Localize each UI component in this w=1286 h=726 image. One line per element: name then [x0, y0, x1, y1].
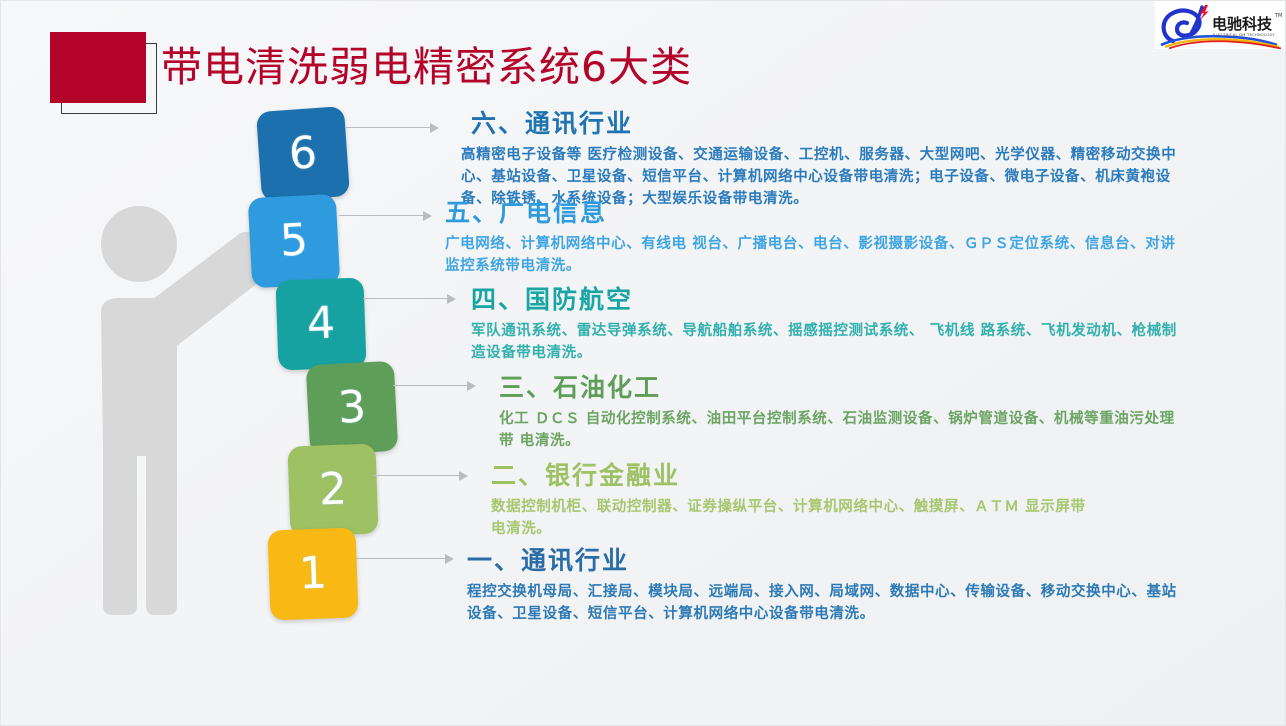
logo-tm-mark: TM: [1274, 13, 1282, 19]
block-number-5: 5: [279, 218, 309, 263]
section-1-body: 程控交换机母局、汇接局、模块局、远端局、接入网、局域网、数据中心、传输设备、移动…: [467, 581, 1179, 625]
number-block-1[interactable]: 1: [267, 527, 358, 620]
number-block-3[interactable]: 3: [306, 361, 399, 455]
page-title: 带电清洗弱电精密系统6大类: [161, 39, 692, 95]
section-1: 一、通讯行业 程控交换机母局、汇接局、模块局、远端局、接入网、局域网、数据中心、…: [467, 546, 1187, 625]
section-3-heading: 三、石油化工: [499, 373, 1191, 403]
slide-canvas: 电驰科技 ELECTRICAL DM TECHNOLOGY TM 带电清洗弱电精…: [0, 0, 1286, 726]
section-5-heading: 五、广电信息: [445, 198, 1187, 228]
number-block-5[interactable]: 5: [248, 194, 341, 288]
logo-graphic: 电驰科技 ELECTRICAL DM TECHNOLOGY TM: [1155, 1, 1285, 49]
section-2: 二、银行金融业 数据控制机柜、联动控制器、证券操纵平台、计算机网络中心、触摸屏、…: [491, 461, 1191, 540]
section-2-heading: 二、银行金融业: [491, 461, 1191, 491]
company-logo: 电驰科技 ELECTRICAL DM TECHNOLOGY TM: [1155, 1, 1285, 49]
arrow-to-section-6: [346, 123, 439, 133]
section-4: 四、国防航空 军队通讯系统、雷达导弹系统、导航船舶系统、摇感摇控测试系统、 飞机…: [471, 285, 1191, 364]
section-6: 六、通讯行业 高精密电子设备等 医疗检测设备、交通运输设备、工控机、服务器、大型…: [461, 109, 1191, 210]
section-3: 三、石油化工 化工 ＤＣＳ 自动化控制系统、油田平台控制系统、石油监测设备、锅炉…: [499, 373, 1191, 452]
section-6-heading: 六、通讯行业: [471, 109, 1191, 139]
title-accent-box: [50, 32, 146, 103]
section-3-body: 化工 ＤＣＳ 自动化控制系统、油田平台控制系统、石油监测设备、锅炉管道设备、机械…: [499, 408, 1187, 452]
block-number-3: 3: [337, 385, 367, 430]
logo-english-text: ELECTRICAL DM TECHNOLOGY: [1213, 33, 1275, 37]
section-5: 五、广电信息 广电网络、计算机网络中心、有线电 视台、广播电台、电台、影视摄影设…: [445, 198, 1187, 277]
logo-chinese-text: 电驰科技: [1212, 15, 1273, 33]
block-number-1: 1: [298, 552, 328, 597]
section-5-body: 广电网络、计算机网络中心、有线电 视台、广播电台、电台、影视摄影设备、ＧＰＳ定位…: [445, 233, 1185, 277]
number-block-4[interactable]: 4: [275, 277, 366, 370]
number-block-2[interactable]: 2: [287, 443, 378, 536]
arrow-to-section-1: [356, 554, 454, 564]
section-4-body: 军队通讯系统、雷达导弹系统、导航船舶系统、摇感摇控测试系统、 飞机线 路系统、飞…: [471, 320, 1186, 364]
arrow-to-section-4: [363, 294, 456, 304]
arrow-to-section-3: [393, 381, 476, 391]
arrow-to-section-5: [339, 211, 432, 221]
section-4-heading: 四、国防航空: [471, 285, 1191, 315]
arrow-to-section-2: [373, 471, 468, 481]
number-block-6[interactable]: 6: [256, 106, 350, 202]
block-number-4: 4: [306, 302, 336, 347]
section-2-body: 数据控制机柜、联动控制器、证券操纵平台、计算机网络中心、触摸屏、ＡＴＭ 显示屏带…: [491, 496, 1091, 540]
section-1-heading: 一、通讯行业: [467, 546, 1187, 576]
block-number-2: 2: [318, 468, 348, 513]
block-number-6: 6: [287, 131, 318, 177]
